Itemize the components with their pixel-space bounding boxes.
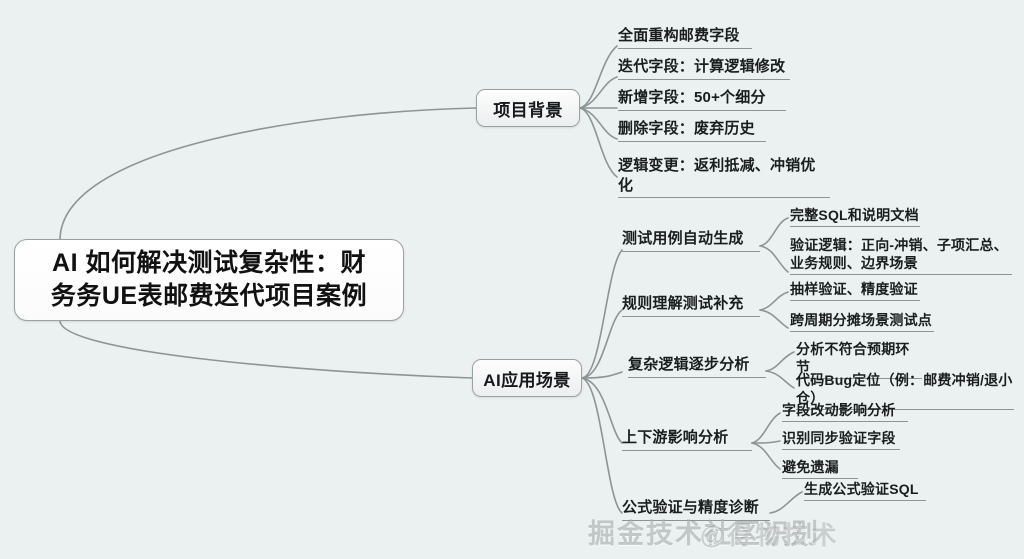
subbranch-node-label: 规则理解测试补充	[622, 294, 760, 314]
leaf-underline	[618, 141, 766, 142]
leaf-node-label: 全面重构邮费字段	[618, 26, 752, 46]
leaf-underline	[622, 251, 760, 252]
leaf-node-label: 验证逻辑：正向-冲销、子项汇总、 业务规则、边界场景	[790, 236, 1012, 272]
leaf-node[interactable]: 验证逻辑：正向-冲销、子项汇总、 业务规则、边界场景	[790, 236, 1012, 277]
mindmap-canvas: AI 如何解决测试复杂性：财 务务UE表邮费迭代项目案例 项目背景 全面重构邮费…	[0, 0, 1024, 559]
leaf-underline	[618, 110, 786, 111]
leaf-underline	[628, 377, 766, 378]
leaf-node-label: 识别同步验证字段	[782, 429, 900, 447]
branch-node-project-background[interactable]: 项目背景	[476, 89, 580, 127]
leaf-node-label: 迭代字段：计算逻辑修改	[618, 57, 790, 77]
leaf-node-label: 新增字段：50+个细分	[618, 88, 786, 108]
leaf-node[interactable]: 全面重构邮费字段	[618, 26, 752, 51]
root-node-label: AI 如何解决测试复杂性：财 务务UE表邮费迭代项目案例	[37, 247, 381, 313]
branch-node-ai-use-cases[interactable]: AI应用场景	[472, 359, 582, 397]
leaf-node[interactable]: 避免遗漏	[782, 458, 858, 481]
leaf-node-label: 避免遗漏	[782, 458, 858, 476]
leaf-underline	[782, 449, 900, 450]
leaf-underline	[622, 520, 770, 521]
branch-node-label: AI应用场景	[483, 366, 570, 391]
subbranch-node[interactable]: 复杂逻辑逐步分析	[628, 355, 766, 380]
leaf-underline	[782, 421, 908, 422]
leaf-node[interactable]: 迭代字段：计算逻辑修改	[618, 57, 790, 82]
root-node[interactable]: AI 如何解决测试复杂性：财 务务UE表邮费迭代项目案例	[14, 239, 404, 321]
leaf-node-label: 跨周期分摊场景测试点	[790, 311, 934, 329]
leaf-underline	[618, 197, 830, 198]
subbranch-node-label: 复杂逻辑逐步分析	[628, 355, 766, 375]
subbranch-node[interactable]: 规则理解测试补充	[622, 294, 760, 319]
leaf-underline	[622, 450, 752, 451]
leaf-node-label: 字段改动影响分析	[782, 401, 908, 419]
leaf-underline	[790, 331, 934, 332]
subbranch-node[interactable]: 上下游影响分析	[622, 428, 752, 453]
leaf-underline	[618, 48, 752, 49]
leaf-node[interactable]: 完整SQL和说明文档	[790, 206, 920, 229]
leaf-node-label: 逻辑变更：返利抵减、冲销优化	[618, 156, 830, 195]
leaf-node[interactable]: 生成公式验证SQL	[804, 480, 926, 503]
subbranch-node[interactable]: 公式验证与精度诊断	[622, 498, 770, 523]
leaf-node[interactable]: 删除字段：废弃历史	[618, 119, 766, 144]
leaf-underline	[804, 500, 926, 501]
leaf-node-label: 完整SQL和说明文档	[790, 206, 920, 224]
leaf-node[interactable]: 逻辑变更：返利抵减、冲销优化	[618, 156, 830, 200]
leaf-underline	[622, 316, 760, 317]
leaf-node[interactable]: 识别同步验证字段	[782, 429, 900, 452]
subbranch-node-label: 测试用例自动生成	[622, 229, 760, 249]
subbranch-node-label: 公式验证与精度诊断	[622, 498, 770, 518]
leaf-underline	[790, 300, 920, 301]
leaf-underline	[790, 226, 920, 227]
leaf-underline	[618, 79, 790, 80]
leaf-node-label: 生成公式验证SQL	[804, 480, 926, 498]
leaf-node-label: 删除字段：废弃历史	[618, 119, 766, 139]
subbranch-node[interactable]: 测试用例自动生成	[622, 229, 760, 254]
leaf-node[interactable]: 新增字段：50+个细分	[618, 88, 786, 113]
leaf-node[interactable]: 字段改动影响分析	[782, 401, 908, 424]
subbranch-node-label: 上下游影响分析	[622, 428, 752, 448]
branch-node-label: 项目背景	[493, 96, 563, 121]
leaf-node[interactable]: 跨周期分摊场景测试点	[790, 311, 934, 334]
leaf-node-label: 抽样验证、精度验证	[790, 280, 920, 298]
leaf-underline	[790, 274, 1012, 275]
leaf-node[interactable]: 抽样验证、精度验证	[790, 280, 920, 303]
